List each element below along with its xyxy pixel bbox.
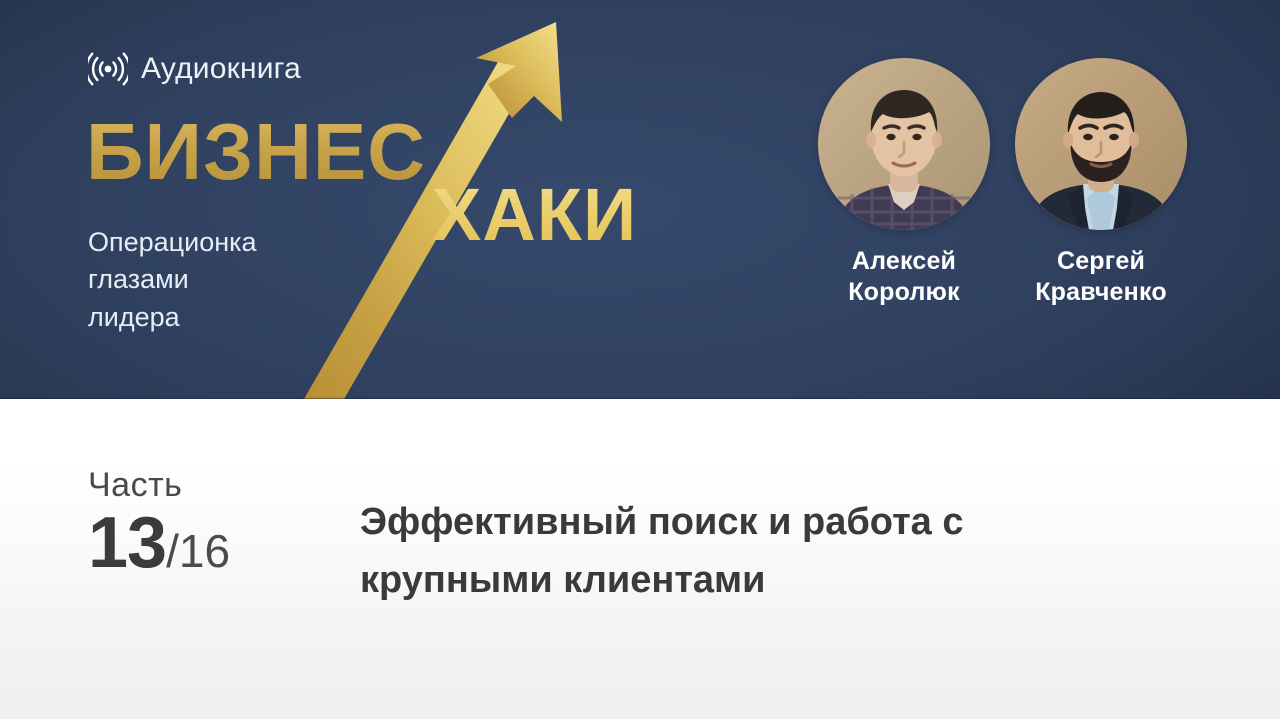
part-indicator: Часть 13 /16 xyxy=(88,468,230,576)
logo-word-primary: БИЗНЕС xyxy=(86,112,426,192)
tagline: Операционка глазами лидера xyxy=(88,224,257,336)
lesson-title: Эффективный поиск и работа с крупными кл… xyxy=(360,494,1150,610)
speaker-name-line: Королюк xyxy=(848,277,960,308)
part-label: Часть xyxy=(88,468,230,502)
speaker-name-line: Сергей xyxy=(1035,246,1167,277)
audiobook-label: Аудиокнига xyxy=(141,52,301,86)
speaker-card: Сергей Кравченко xyxy=(1015,58,1187,307)
tagline-line: Операционка xyxy=(88,224,257,261)
header-panel: Аудиокнига БИЗНЕС ХАКИ Операционка глаза… xyxy=(0,0,1280,399)
speaker-name: Сергей Кравченко xyxy=(1035,246,1167,307)
speaker-card: Алексей Королюк xyxy=(818,58,990,307)
tagline-line: лидера xyxy=(88,299,257,336)
broadcast-waves-icon xyxy=(88,52,128,86)
speakers-group: Алексей Королюк xyxy=(818,58,1187,307)
avatar-aleksey-korolyuk xyxy=(818,58,990,230)
slide-root: Аудиокнига БИЗНЕС ХАКИ Операционка глаза… xyxy=(0,0,1280,719)
part-total-number: /16 xyxy=(166,530,230,572)
logo-word-secondary: ХАКИ xyxy=(432,178,637,252)
speaker-name: Алексей Королюк xyxy=(848,246,960,307)
part-current-number: 13 xyxy=(88,510,166,576)
speaker-name-line: Кравченко xyxy=(1035,277,1167,308)
tagline-line: глазами xyxy=(88,261,257,298)
avatar-sergey-kravchenko xyxy=(1015,58,1187,230)
audiobook-badge: Аудиокнига xyxy=(88,52,301,86)
speaker-name-line: Алексей xyxy=(848,246,960,277)
part-numbers: 13 /16 xyxy=(88,510,230,576)
